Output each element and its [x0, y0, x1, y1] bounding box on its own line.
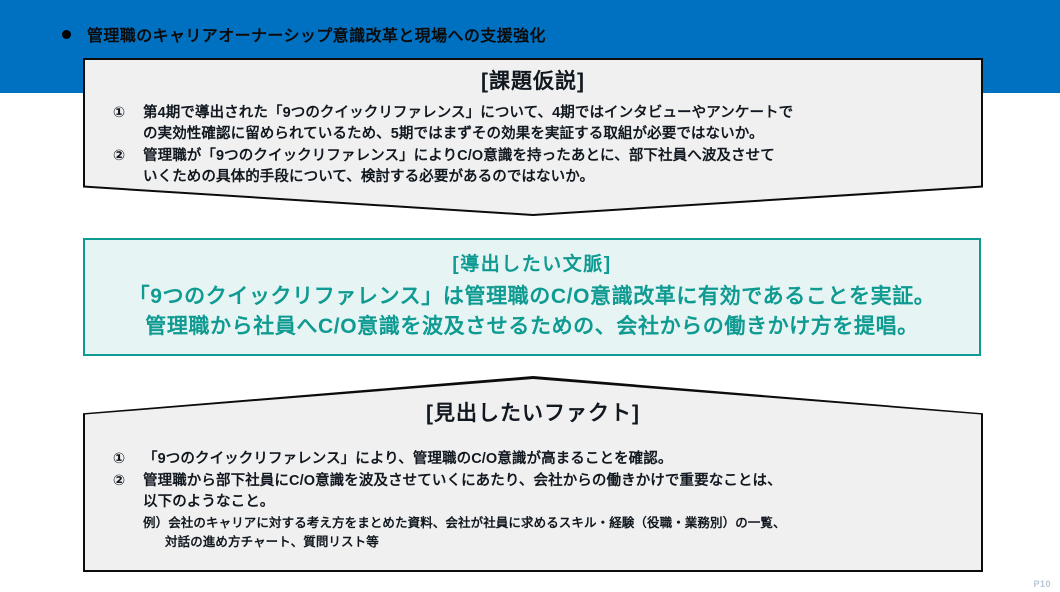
list-text: 「9つのクイックリファレンス」により、管理職のC/O意識が高まることを確認。	[143, 449, 672, 470]
page-number: P10	[1033, 579, 1051, 589]
issue-box: [課題仮説] ① 第4期で導出された「9つのクイックリファレンス」について、4期…	[83, 58, 983, 216]
list-item: ② 管理職から部下社員にC/O意識を波及させていくにあたり、会社からの働きかけで…	[109, 471, 983, 552]
example-line: 例）会社のキャリアに対する考え方をまとめた資料、会社が社員に求めるスキル・経験（…	[143, 514, 786, 533]
list-marker: ①	[109, 449, 129, 470]
fact-box: [見出したいファクト] ① 「9つのクイックリファレンス」により、管理職のC/O…	[83, 376, 983, 572]
context-box-line: 「9つのクイックリファレンス」は管理職のC/O意識改革に有効であることを実証。	[85, 282, 979, 312]
list-item: ① 第4期で導出された「9つのクイックリファレンス」について、4期ではインタビュ…	[109, 103, 983, 145]
list-text-line: 管理職が「9つのクイックリファレンス」によりC/O意識を持ったあとに、部下社員へ…	[143, 146, 775, 167]
list-text-line: の実効性確認に留められているため、5期ではまずその効果を実証する取組が必要ではな…	[143, 124, 793, 145]
list-text-line: いくための具体的手段について、検討する必要があるのではないか。	[143, 167, 775, 188]
fact-box-heading: [見出したいファクト]	[83, 397, 983, 427]
list-text-line: 第4期で導出された「9つのクイックリファレンス」について、4期ではインタビューや…	[143, 103, 793, 124]
list-marker: ②	[109, 471, 129, 492]
list-text: 管理職から部下社員にC/O意識を波及させていくにあたり、会社からの働きかけで重要…	[143, 471, 786, 552]
fact-box-list: ① 「9つのクイックリファレンス」により、管理職のC/O意識が高まることを確認。…	[83, 449, 983, 552]
issue-box-heading: [課題仮説]	[83, 65, 983, 95]
list-text-line: 「9つのクイックリファレンス」により、管理職のC/O意識が高まることを確認。	[143, 449, 672, 470]
list-text-line: 以下のようなこと。	[143, 492, 786, 513]
context-box-heading: [導出したい文脈]	[85, 249, 979, 276]
context-box-body: 「9つのクイックリファレンス」は管理職のC/O意識改革に有効であることを実証。 …	[85, 282, 979, 342]
slide-canvas: 管理職のキャリアオーナーシップ意識改革と現場への支援強化 [課題仮説] ① 第4…	[0, 0, 1060, 592]
list-item: ② 管理職が「9つのクイックリファレンス」によりC/O意識を持ったあとに、部下社…	[109, 146, 983, 188]
list-marker: ①	[109, 103, 129, 124]
list-text: 第4期で導出された「9つのクイックリファレンス」について、4期ではインタビューや…	[143, 103, 793, 145]
list-item: ① 「9つのクイックリファレンス」により、管理職のC/O意識が高まることを確認。	[109, 449, 983, 470]
list-text: 管理職が「9つのクイックリファレンス」によりC/O意識を持ったあとに、部下社員へ…	[143, 146, 775, 188]
list-marker: ②	[109, 146, 129, 167]
fact-box-example: 例）会社のキャリアに対する考え方をまとめた資料、会社が社員に求めるスキル・経験（…	[143, 514, 786, 552]
page-title: 管理職のキャリアオーナーシップ意識改革と現場への支援強化	[87, 22, 546, 46]
issue-box-list: ① 第4期で導出された「9つのクイックリファレンス」について、4期ではインタビュ…	[83, 103, 983, 188]
list-text-line: 管理職から部下社員にC/O意識を波及させていくにあたり、会社からの働きかけで重要…	[143, 471, 786, 492]
bullet-dot-icon	[62, 30, 71, 39]
context-box: [導出したい文脈] 「9つのクイックリファレンス」は管理職のC/O意識改革に有効…	[83, 238, 981, 356]
example-line: 対話の進め方チャート、質問リスト等	[143, 533, 786, 552]
header-heading-row: 管理職のキャリアオーナーシップ意識改革と現場への支援強化	[62, 22, 546, 46]
context-box-line: 管理職から社員へC/O意識を波及させるための、会社からの働きかけ方を提唱。	[85, 312, 979, 342]
